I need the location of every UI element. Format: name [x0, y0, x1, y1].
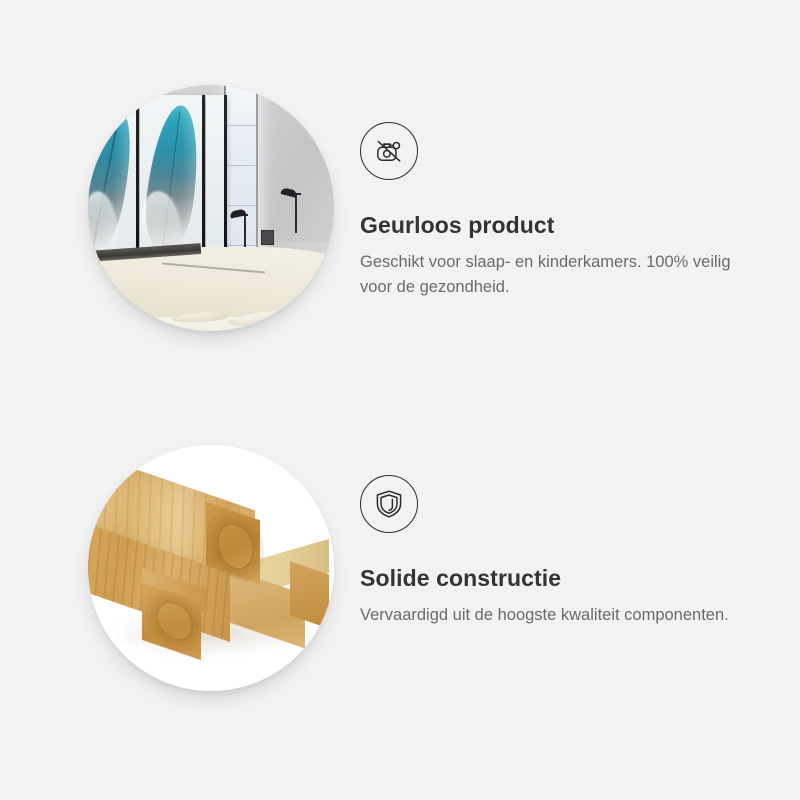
- bed: [88, 247, 334, 331]
- feature-description: Geschikt voor slaap- en kinderkamers. 10…: [360, 250, 750, 300]
- feature-block-solid-construction: Solide constructie Vervaardigd uit de ho…: [0, 420, 800, 720]
- bedroom-window: [226, 85, 258, 267]
- feature-title: Geurloos product: [360, 212, 760, 240]
- window-frame-right: [256, 85, 258, 267]
- feature-content-scent-free: Geurloos product Geschikt voor slaap- en…: [360, 122, 760, 300]
- canvas-panel-1: [88, 95, 137, 267]
- wall-picture-frame: [261, 230, 273, 245]
- feature-content-solid-construction: Solide constructie Vervaardigd uit de ho…: [360, 475, 760, 628]
- canvas-edge-1: [136, 95, 139, 267]
- no-perfume-icon: [360, 122, 418, 180]
- canvas-panel-3: [206, 95, 224, 267]
- product-feature-page: Geurloos product Geschikt voor slaap- en…: [0, 0, 800, 800]
- canvas-edge-2: [202, 95, 205, 267]
- feature-block-scent-free: Geurloos product Geschikt voor slaap- en…: [0, 60, 800, 380]
- feature-image-solid-construction: [88, 445, 334, 691]
- bedroom-scene: [88, 85, 334, 331]
- bedroom-wall-texture: [260, 90, 334, 243]
- wood-beams-scene: [88, 445, 334, 691]
- feature-description: Vervaardigd uit de hoogste kwaliteit com…: [360, 603, 750, 628]
- feature-image-scent-free: [88, 85, 334, 331]
- circular-photo-wood: [88, 445, 334, 691]
- canvas-panel-2: [140, 95, 204, 267]
- circular-photo-bedroom: [88, 85, 334, 331]
- shield-icon: [360, 475, 418, 533]
- canvas-edge-3: [224, 95, 227, 267]
- feature-title: Solide constructie: [360, 565, 760, 593]
